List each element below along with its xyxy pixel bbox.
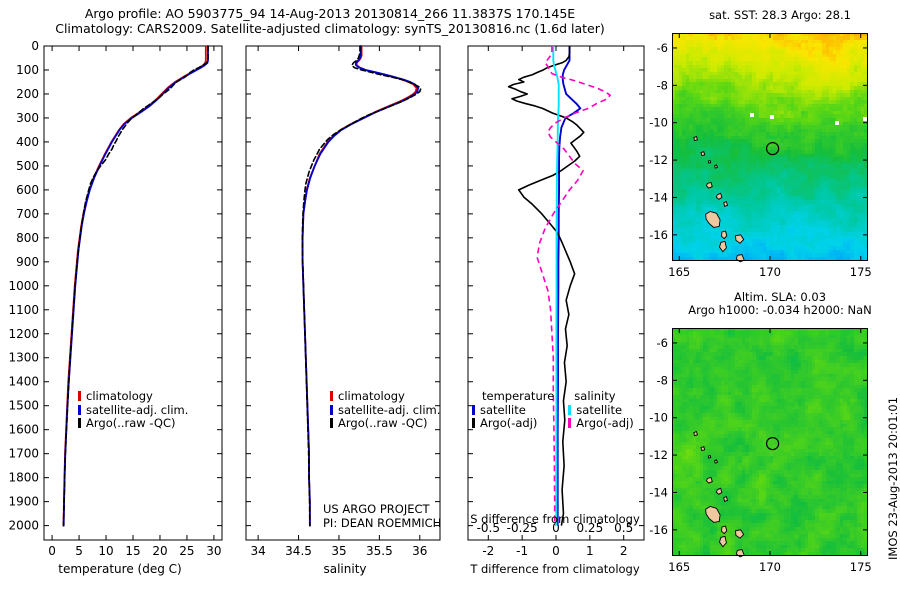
- map-y-tick-label: -16: [649, 523, 668, 537]
- temperature-panel: 0100200300400500600700800900100011001200…: [0, 0, 232, 580]
- y-tick-label: 300: [16, 111, 39, 125]
- map-x-tick-label: 165: [668, 265, 690, 279]
- map-y-tick-label: -10: [649, 411, 668, 425]
- series-temperature-argo-adj-: [509, 46, 584, 526]
- legend-swatch-satellite: [78, 405, 81, 415]
- x-tick-label: 0: [48, 544, 56, 558]
- project-name: US ARGO PROJECT: [323, 503, 441, 517]
- x-tick-label: 20: [152, 544, 167, 558]
- y-tick-label: 1500: [8, 399, 39, 413]
- temperature-legend: climatology satellite-adj. clim. Argo(..…: [78, 390, 188, 431]
- legend-item: climatology: [78, 390, 188, 404]
- map-y-tick-label: -6: [657, 41, 668, 55]
- imos-timestamp: IMOS 23-Aug-2013 20:01:01: [886, 560, 900, 574]
- legend-header-temperature: temperature: [472, 390, 560, 404]
- legend-label: satellite: [480, 403, 526, 417]
- map-y-tick-label: -14: [649, 190, 668, 204]
- legend-item: satellite-adj. clim.: [330, 404, 440, 418]
- legend-header-salinity: salinity: [560, 390, 633, 404]
- map-y-tick-label: -16: [649, 228, 668, 242]
- x-tick-label: 34: [250, 544, 265, 558]
- salinity-axis-label: salinity: [250, 562, 440, 576]
- legend-swatch-climatology: [78, 391, 81, 401]
- y-tick-label: 0: [31, 39, 39, 53]
- x-tick-label-t: -2: [482, 544, 494, 558]
- difference-panel: -2-1012-0.5-0.2500.250.5: [454, 0, 660, 580]
- legend-swatch-satellite: [330, 405, 333, 415]
- legend-label: satellite: [576, 403, 622, 417]
- y-tick-label: 700: [16, 207, 39, 221]
- sla-map-title: Altim. SLA: 0.03 Argo h1000: -0.034 h200…: [660, 291, 900, 317]
- map-y-tick-label: -8: [657, 78, 668, 92]
- project-pi: PI: DEAN ROEMMICH: [323, 517, 441, 531]
- legend-label: Argo(-adj): [576, 416, 633, 430]
- x-tick-label: 10: [98, 544, 113, 558]
- y-tick-label: 200: [16, 87, 39, 101]
- legend-swatch-t-satellite: [472, 405, 475, 415]
- map-y-tick-label: -10: [649, 116, 668, 130]
- y-tick-label: 900: [16, 255, 39, 269]
- y-tick-label: 1100: [8, 303, 39, 317]
- y-tick-label: 600: [16, 183, 39, 197]
- series-climatology: [63, 46, 205, 526]
- legend-swatch-s-argo: [568, 418, 571, 428]
- sst-axes: 165170175-6-8-10-12-14-16: [650, 25, 900, 315]
- map-y-tick-label: -14: [649, 485, 668, 499]
- series-argo-raw-qc-: [302, 46, 420, 526]
- difference-legend: temperature salinity satellite satellite…: [472, 390, 634, 431]
- difference-plot: -2-1012-0.5-0.2500.250.5: [454, 0, 660, 580]
- legend-item: satellite: [472, 404, 560, 418]
- map-y-tick-label: -12: [649, 153, 668, 167]
- y-tick-label: 1800: [8, 471, 39, 485]
- argo-project-footer: US ARGO PROJECT PI: DEAN ROEMMICH: [323, 503, 441, 530]
- map-x-tick-label: 170: [759, 560, 781, 574]
- series-argo-raw-qc-: [64, 46, 208, 526]
- x-tick-label: 36: [412, 544, 427, 558]
- map-x-tick-label: 170: [759, 265, 781, 279]
- legend-label: Argo(..raw -QC): [338, 416, 428, 430]
- sla-title-line-2: Argo h1000: -0.034 h2000: NaN: [660, 304, 900, 317]
- legend-label: climatology: [338, 389, 405, 403]
- legend-item: Argo(..raw -QC): [330, 417, 440, 431]
- sst-map-title: sat. SST: 28.3 Argo: 28.1: [660, 9, 900, 22]
- series-temperature-satellite: [558, 46, 581, 526]
- temperature-axis-label: temperature (deg C): [20, 562, 220, 576]
- legend-swatch-argo: [78, 418, 81, 428]
- x-tick-label-t: 1: [586, 544, 594, 558]
- y-tick-label: 500: [16, 159, 39, 173]
- y-tick-label: 400: [16, 135, 39, 149]
- imos-timestamp-text: IMOS 23-Aug-2013 20:01:01: [886, 397, 900, 560]
- map-y-tick-label: -8: [657, 373, 668, 387]
- t-difference-axis-label: T difference from climatology: [455, 562, 655, 576]
- y-tick-label: 1000: [8, 279, 39, 293]
- x-tick-label: 35.5: [366, 544, 393, 558]
- legend-label: Argo(-adj): [480, 416, 537, 430]
- s-difference-axis-label: S difference from climatology: [455, 512, 655, 526]
- y-tick-label: 1600: [8, 423, 39, 437]
- x-tick-label: 30: [206, 544, 221, 558]
- plot-frame: [246, 46, 440, 540]
- legend-item: climatology: [330, 390, 440, 404]
- x-tick-label: 25: [179, 544, 194, 558]
- legend-swatch-argo: [330, 418, 333, 428]
- legend-item: Argo(..raw -QC): [78, 417, 188, 431]
- legend-label: Argo(..raw -QC): [86, 416, 176, 430]
- map-x-tick-label: 165: [668, 560, 690, 574]
- map-y-tick-label: -12: [649, 448, 668, 462]
- x-tick-label: 34.5: [285, 544, 312, 558]
- x-tick-label-t: -1: [516, 544, 528, 558]
- legend-item: satellite: [560, 404, 633, 418]
- map-x-tick-label: 175: [850, 560, 872, 574]
- legend-swatch-climatology: [330, 391, 333, 401]
- y-tick-label: 1300: [8, 351, 39, 365]
- y-tick-label: 1200: [8, 327, 39, 341]
- legend-label: satellite-adj. clim.: [338, 403, 440, 417]
- x-tick-label: 35: [331, 544, 346, 558]
- series-salinity-argo-adj-: [537, 46, 610, 526]
- legend-swatch-s-satellite: [568, 405, 571, 415]
- map-y-tick-label: -6: [657, 336, 668, 350]
- legend-label: climatology: [86, 389, 153, 403]
- map-x-tick-label: 175: [850, 265, 872, 279]
- series-climatology: [303, 46, 417, 526]
- y-tick-label: 100: [16, 63, 39, 77]
- y-tick-label: 1900: [8, 495, 39, 509]
- plot-frame: [44, 46, 222, 540]
- y-tick-label: 1400: [8, 375, 39, 389]
- temperature-plot: 0100200300400500600700800900100011001200…: [0, 0, 232, 580]
- x-tick-label-t: 2: [620, 544, 628, 558]
- salinity-legend: climatology satellite-adj. clim. Argo(..…: [330, 390, 440, 431]
- legend-item: satellite-adj. clim.: [78, 404, 188, 418]
- legend-item: Argo(-adj): [472, 417, 560, 431]
- y-tick-label: 2000: [8, 519, 39, 533]
- salinity-panel: 3434.53535.536: [232, 0, 454, 580]
- legend-swatch-t-argo: [472, 418, 475, 428]
- salinity-plot: 3434.53535.536: [232, 0, 454, 580]
- y-tick-label: 1700: [8, 447, 39, 461]
- difference-legend-table: temperature salinity satellite satellite…: [472, 390, 634, 431]
- x-tick-label: 15: [125, 544, 140, 558]
- y-tick-label: 800: [16, 231, 39, 245]
- x-tick-label: 5: [75, 544, 83, 558]
- sla-axes: 165170175-6-8-10-12-14-16: [650, 320, 900, 610]
- legend-label: satellite-adj. clim.: [86, 403, 188, 417]
- x-tick-label-t: 0: [552, 544, 560, 558]
- series-satellite-adj-clim-: [303, 46, 419, 526]
- series-satellite-adj-clim-: [64, 46, 208, 526]
- legend-item: Argo(-adj): [560, 417, 633, 431]
